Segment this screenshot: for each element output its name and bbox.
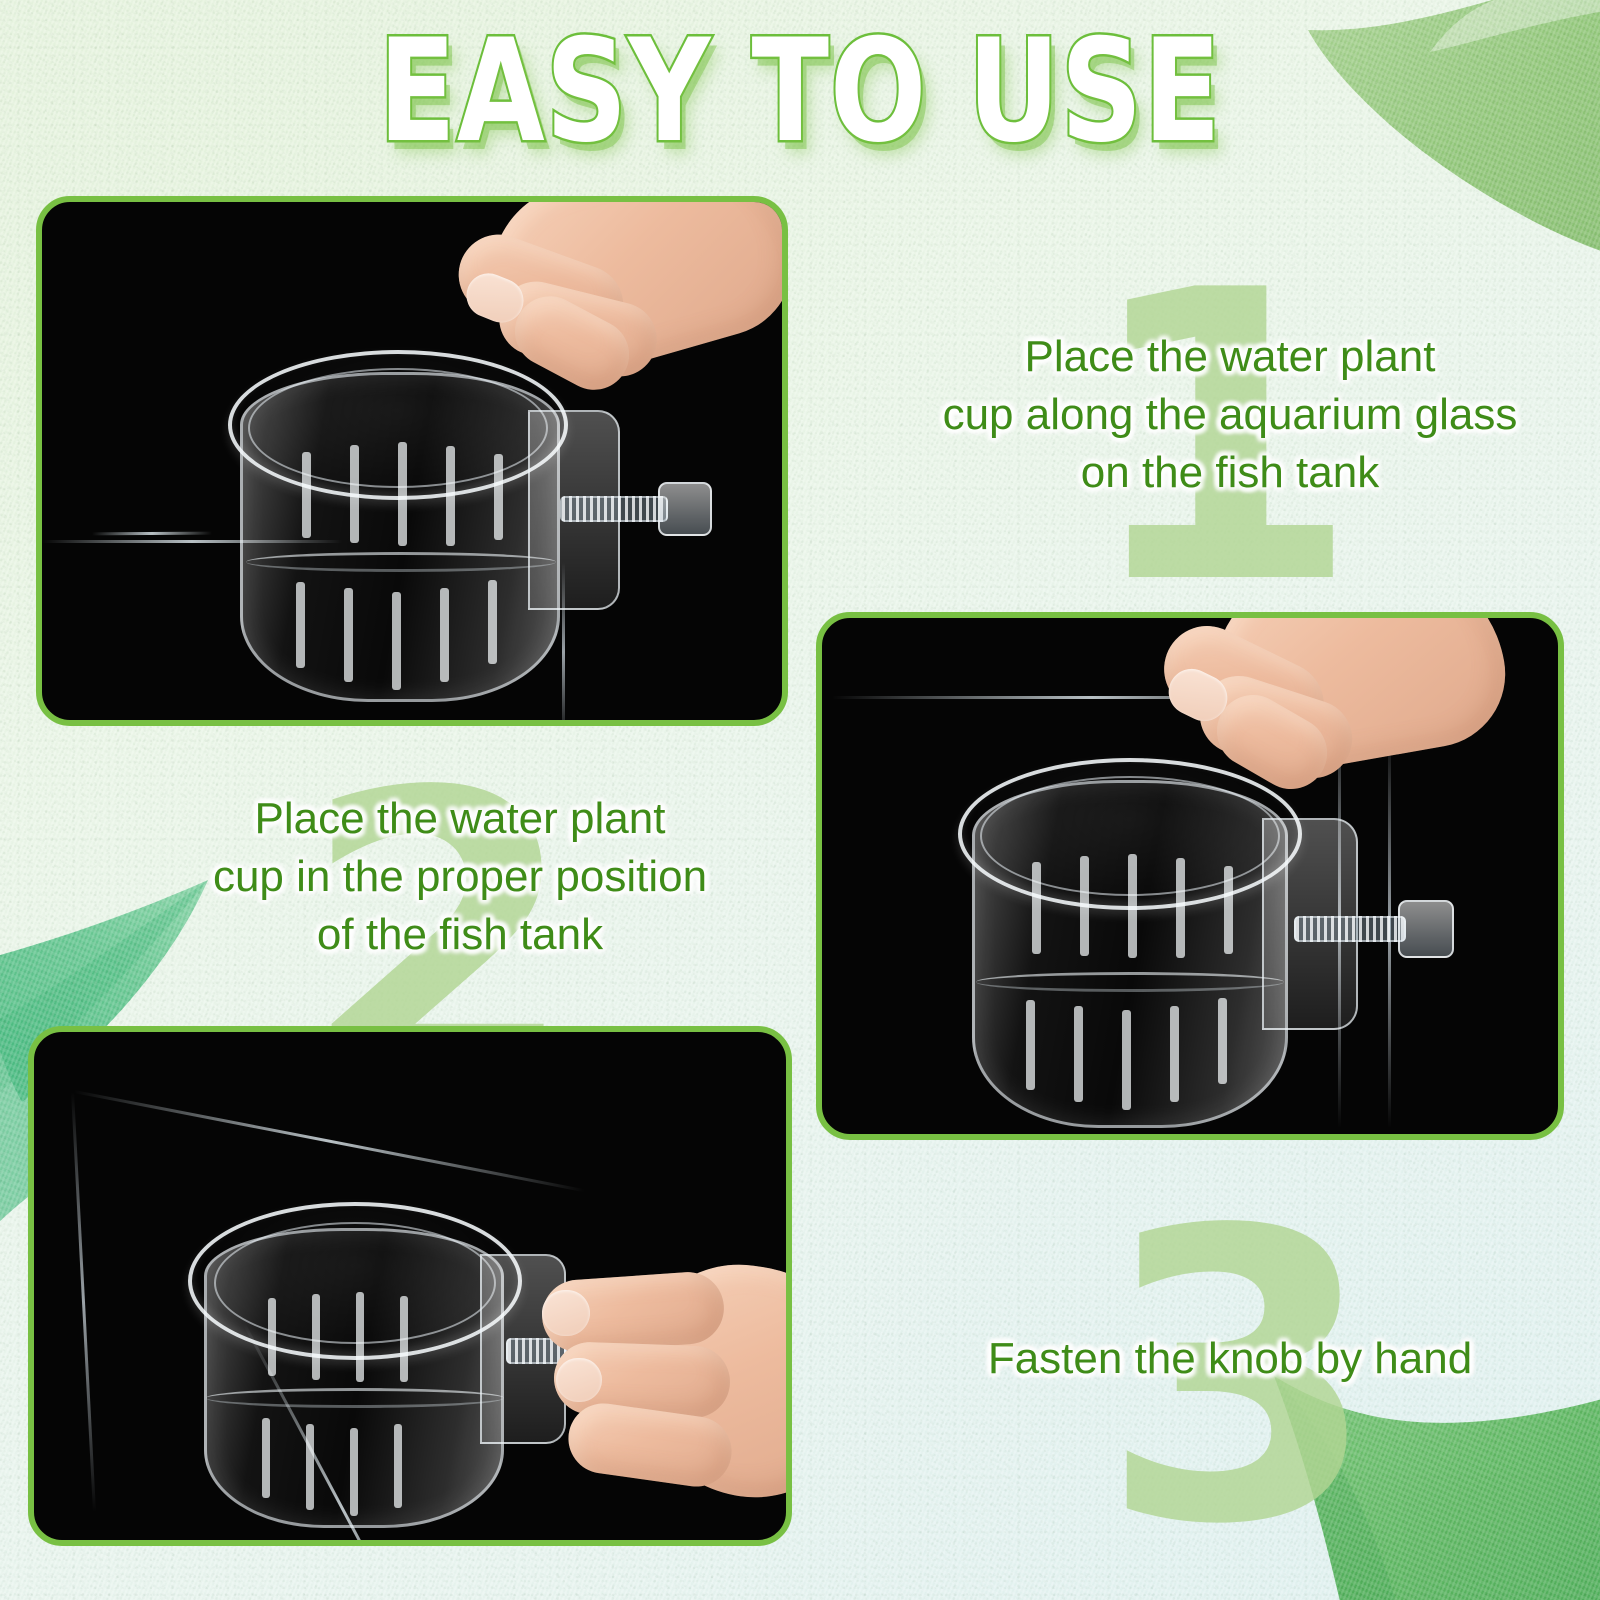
- cup-slot: [306, 1424, 314, 1510]
- clamp-knob: [658, 482, 712, 536]
- cup-slot: [392, 592, 401, 690]
- hand: [520, 1248, 786, 1540]
- cup-slot: [440, 588, 449, 682]
- clamp-knob: [1398, 900, 1454, 958]
- cup-slot: [400, 1296, 408, 1382]
- clamp-screw: [560, 496, 668, 522]
- tank-glass-edge: [74, 1090, 585, 1192]
- cup-slot: [1074, 1006, 1083, 1102]
- cup-slot: [446, 446, 455, 546]
- cup-slot: [1170, 1006, 1179, 1102]
- cup-slot: [356, 1292, 364, 1382]
- tank-glass-edge-vertical: [71, 1092, 96, 1512]
- fingernail: [556, 1358, 602, 1402]
- cup-mid-band: [206, 1388, 504, 1408]
- cup-slot: [1128, 854, 1137, 958]
- cup-rim-inner: [214, 1222, 496, 1344]
- cup-slot: [1218, 998, 1227, 1084]
- step-photo-3: [28, 1026, 792, 1546]
- cup-slot: [302, 452, 311, 538]
- cup-slot: [296, 582, 305, 668]
- cup-slot: [1224, 866, 1233, 954]
- tank-glass-edge: [92, 532, 212, 536]
- cup-slot: [350, 1428, 358, 1516]
- fingernail: [542, 1290, 590, 1336]
- step-photo-2: [816, 612, 1564, 1140]
- cup-slot: [494, 454, 503, 540]
- page-title: EASY TO USE: [160, 18, 1440, 166]
- cup-slot: [1032, 862, 1041, 954]
- cup-mid-band: [246, 552, 556, 572]
- step-caption-1: Place the water plant cup along the aqua…: [880, 328, 1580, 502]
- poster-canvas: EASY TO USE 1 Place the water plant cup …: [0, 0, 1600, 1600]
- cup-slot: [1026, 1000, 1035, 1090]
- cup-slot: [488, 580, 497, 664]
- cup-slot: [268, 1298, 276, 1376]
- cup-slot: [1080, 856, 1089, 956]
- cup-slot: [344, 588, 353, 682]
- step-caption-2: Place the water plant cup in the proper …: [110, 790, 810, 964]
- cup-slot: [350, 445, 359, 543]
- clamp-screw: [1294, 916, 1406, 942]
- cup-slot: [394, 1424, 402, 1508]
- cup-slot: [1122, 1010, 1131, 1110]
- step-caption-3: Fasten the knob by hand: [880, 1330, 1580, 1388]
- cup-slot: [262, 1418, 270, 1498]
- cup-slot: [312, 1294, 320, 1380]
- cup-slot: [1176, 858, 1185, 958]
- step-photo-1: [36, 196, 788, 726]
- hand: [394, 202, 782, 448]
- cup-mid-band: [976, 972, 1284, 992]
- cup-slot: [398, 442, 407, 546]
- hand: [1102, 618, 1522, 860]
